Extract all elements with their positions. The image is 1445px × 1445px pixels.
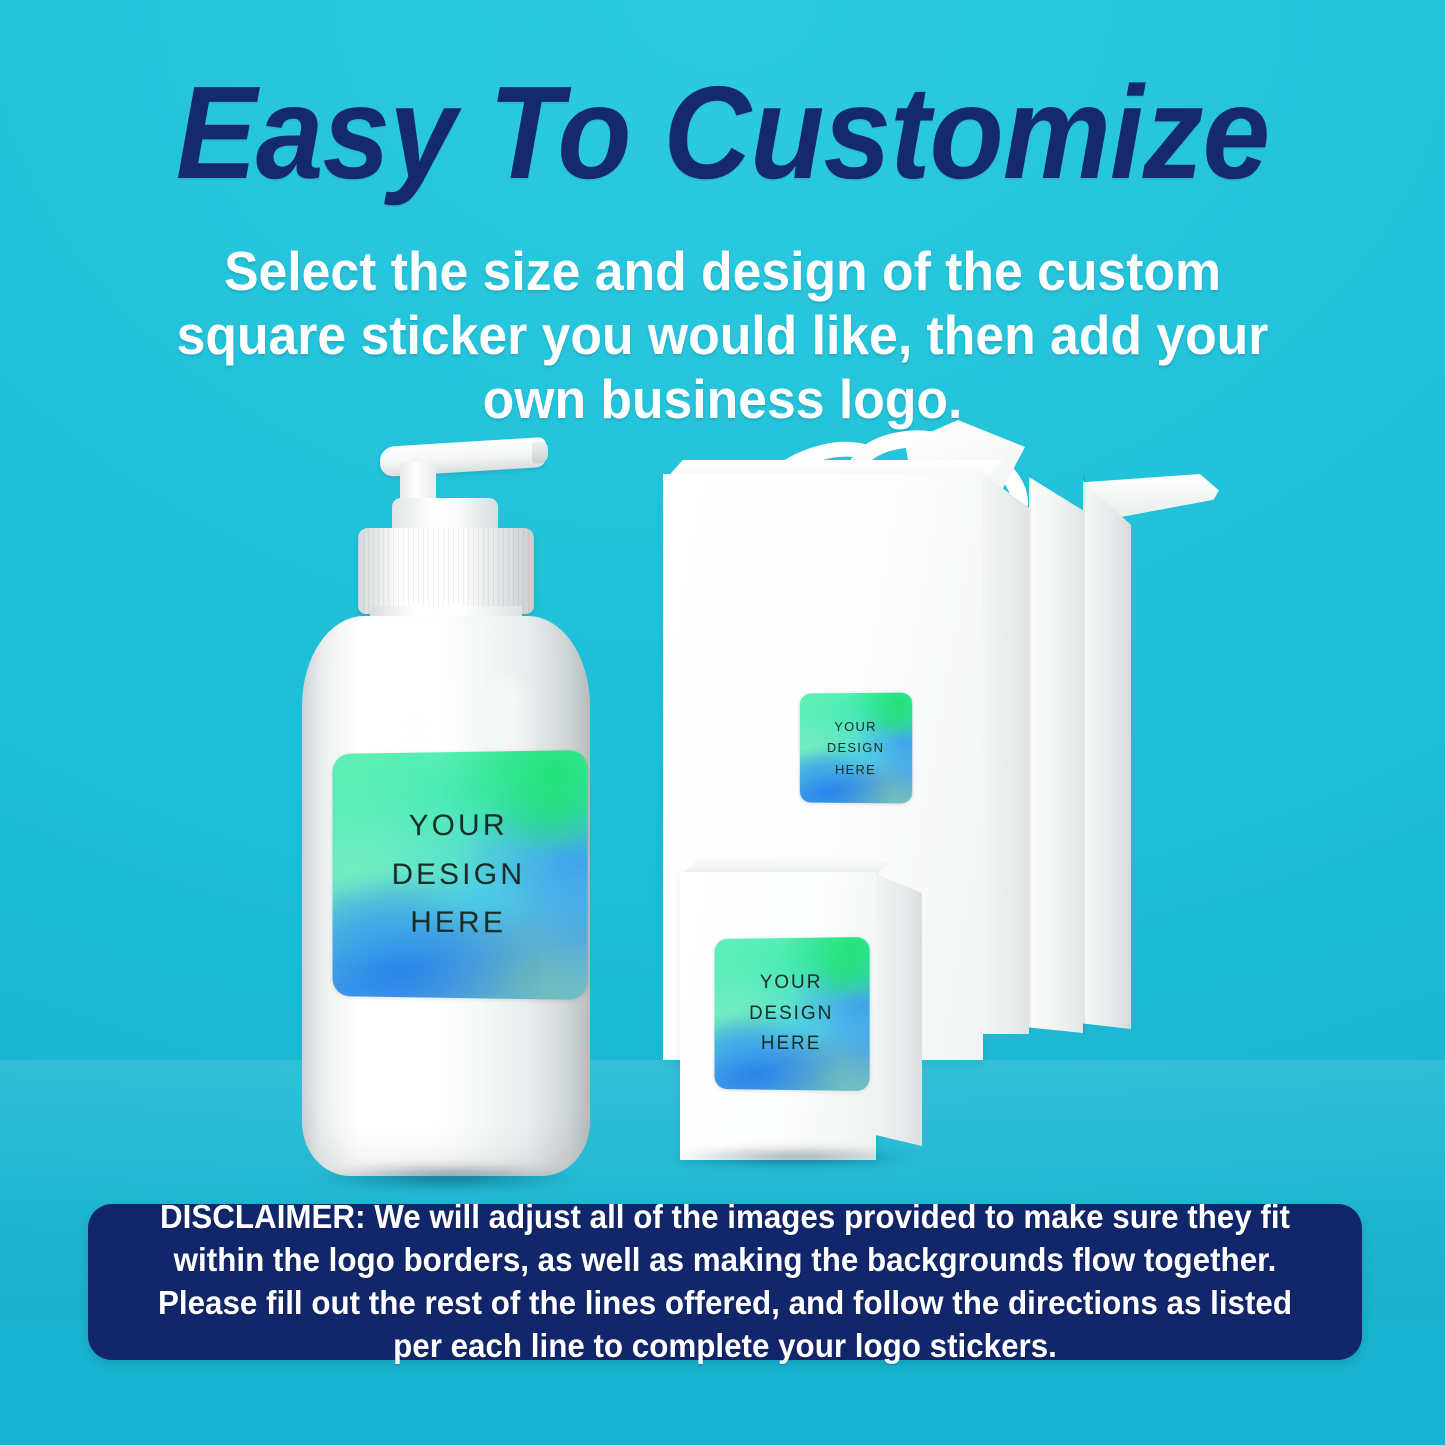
page-title: Easy To Customize (58, 66, 1387, 201)
sticker-label-bottle[interactable]: YOUR DESIGN HERE (332, 750, 587, 1000)
pump-ribbed-collar (358, 528, 534, 614)
gift-box-side-panel-2 (1029, 477, 1083, 1033)
disclaimer-text: DISCLAIMER: We will adjust all of the im… (120, 1196, 1330, 1368)
sticker-line-1: YOUR (409, 802, 508, 851)
sticker-label-small-box[interactable]: YOUR DESIGN HERE (714, 937, 869, 1091)
disclaimer-label: DISCLAIMER: (160, 1198, 366, 1235)
disclaimer-banner: DISCLAIMER: We will adjust all of the im… (88, 1204, 1362, 1360)
sticker-label-gift-box[interactable]: YOUR DESIGN HERE (800, 692, 912, 803)
sticker-text-block: YOUR DESIGN HERE (800, 692, 912, 803)
gift-box-side-panel-3 (1083, 481, 1131, 1029)
sticker-line-1: YOUR (834, 716, 877, 737)
sticker-line-3: HERE (410, 899, 506, 948)
sticker-line-3: HERE (835, 758, 876, 779)
gift-box-seam-1 (1029, 474, 1031, 1034)
infographic-canvas: Easy To Customize Select the size and de… (0, 0, 1445, 1445)
sticker-line-3: HERE (761, 1029, 821, 1060)
gift-box-seam-2 (1083, 474, 1085, 1034)
sticker-line-2: DESIGN (392, 850, 526, 899)
sticker-line-2: DESIGN (827, 737, 884, 758)
small-box-side-face (876, 874, 922, 1146)
sticker-text-block: YOUR DESIGN HERE (332, 750, 587, 1000)
bottle-shadow (312, 1162, 580, 1192)
sticker-text-block: YOUR DESIGN HERE (714, 937, 869, 1091)
page-subtitle: Select the size and design of the custom… (149, 240, 1297, 431)
small-box-shadow (670, 1146, 920, 1168)
sticker-line-2: DESIGN (749, 998, 833, 1029)
sticker-line-1: YOUR (760, 968, 823, 999)
gift-box-side-panel-1 (983, 474, 1029, 1034)
